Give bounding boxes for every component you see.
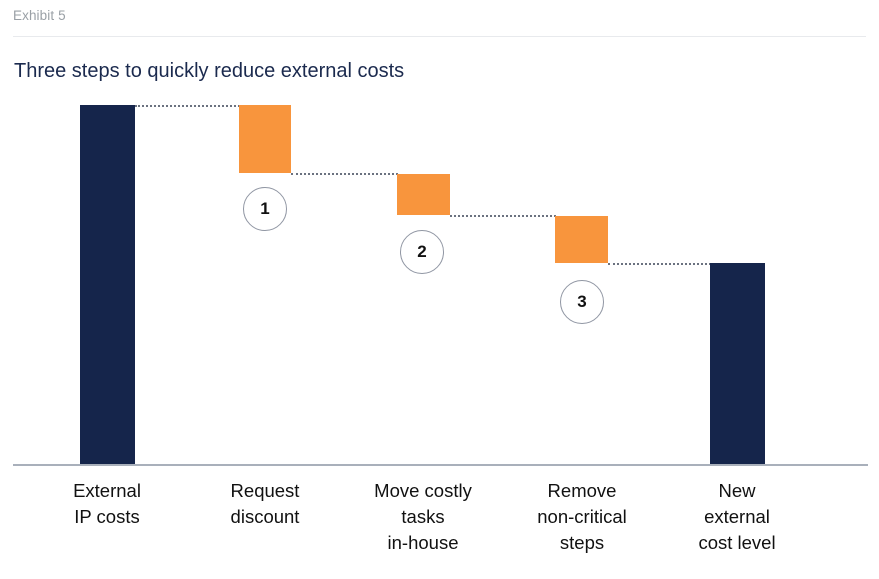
exhibit-page: Exhibit 5 Three steps to quickly reduce … [0,0,879,579]
axis-label-line: New [637,478,837,504]
connector-3-top [450,215,556,217]
axis-label-line: external [637,504,837,530]
step-marker-3-label: 3 [577,292,586,312]
bar-external-ip-costs [80,105,135,465]
step-marker-1: 1 [243,187,287,231]
waterfall-chart: 1 2 3 External IP costs Request discount… [0,0,879,579]
step-marker-1-label: 1 [260,199,269,219]
step-marker-2: 2 [400,230,444,274]
connector-1-top [135,105,240,107]
connector-2-top [291,173,398,175]
step-marker-2-label: 2 [417,242,426,262]
bar-new-external-cost-level [710,263,765,465]
bar-move-costly-tasks [397,174,450,215]
step-marker-3: 3 [560,280,604,324]
connector-4-top [608,263,711,265]
bar-remove-noncritical-steps [555,216,608,263]
x-axis-line [13,464,868,466]
bar-request-discount [239,105,291,173]
axis-label-line: cost level [637,530,837,556]
axis-label-new-external-cost-level: New external cost level [637,478,837,556]
